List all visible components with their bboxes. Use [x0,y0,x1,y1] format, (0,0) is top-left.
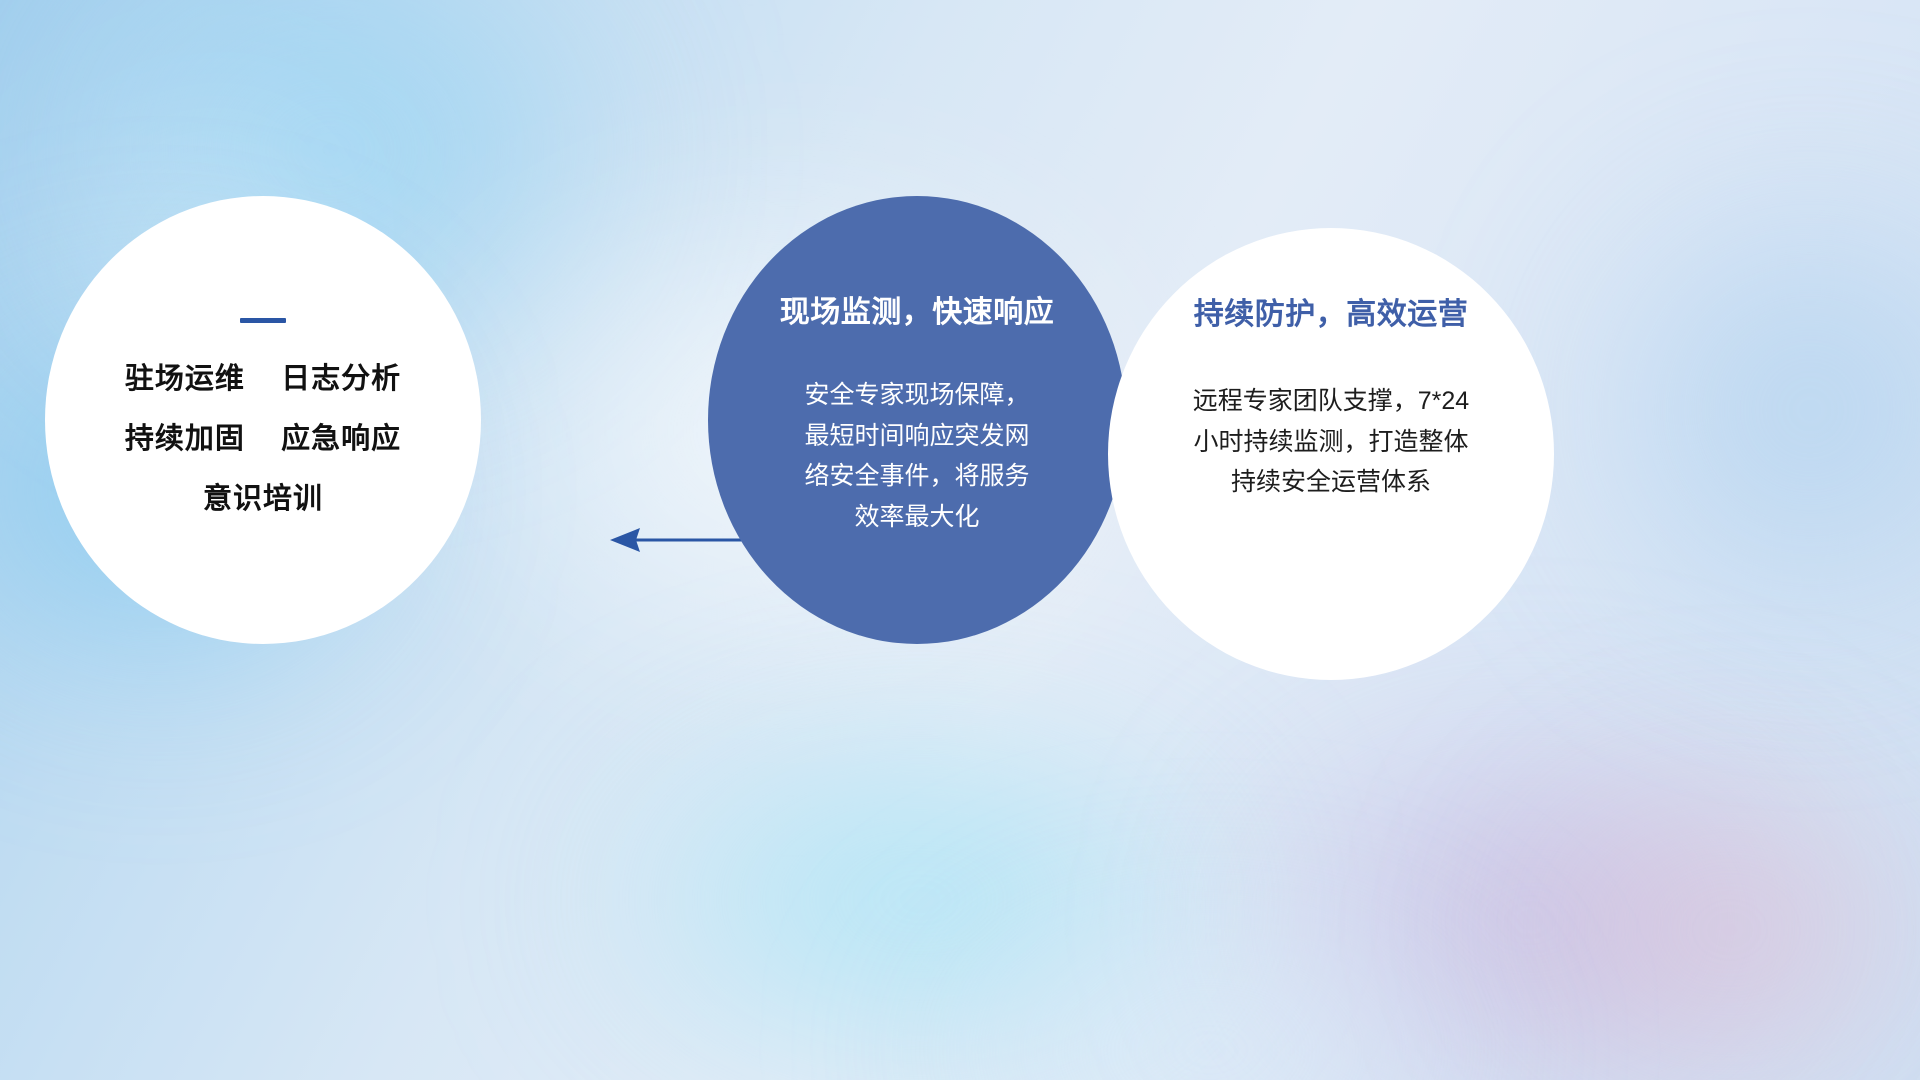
body-line: 效率最大化 [767,497,1067,538]
body-line: 络安全事件，将服务 [767,456,1067,497]
circle-title: 现场监测，快速响应 [780,296,1055,329]
body-line: 安全专家现场保障， [767,375,1067,416]
list-item: 持续加固 应急响应 [125,425,401,454]
divider-dash [240,318,286,323]
circle-onsite-monitoring[interactable]: 现场监测，快速响应 安全专家现场保障， 最短时间响应突发网 络安全事件，将服务 … [708,196,1126,644]
circle-body: 安全专家现场保障， 最短时间响应突发网 络安全事件，将服务 效率最大化 [767,375,1067,537]
body-line: 持续安全运营体系 [1155,462,1507,503]
body-line: 小时持续监测，打造整体 [1155,422,1507,463]
body-line: 远程专家团队支撑，7*24 [1155,381,1507,422]
body-line: 最短时间响应突发网 [767,416,1067,457]
list-item: 意识培训 [125,485,401,514]
slide-canvas: 驻场运维 日志分析 持续加固 应急响应 意识培训 现场监测，快速响应 安全专家现… [0,0,1920,1080]
circle-capabilities[interactable]: 驻场运维 日志分析 持续加固 应急响应 意识培训 [45,196,481,644]
circle-body: 远程专家团队支撑，7*24 小时持续监测，打造整体 持续安全运营体系 [1155,381,1507,503]
list-item: 驻场运维 日志分析 [125,365,401,394]
circle-title: 持续防护，高效运营 [1194,298,1469,331]
capability-list: 驻场运维 日志分析 持续加固 应急响应 意识培训 [125,365,401,514]
circle-continuous-protection[interactable]: 持续防护，高效运营 远程专家团队支撑，7*24 小时持续监测，打造整体 持续安全… [1108,228,1554,680]
